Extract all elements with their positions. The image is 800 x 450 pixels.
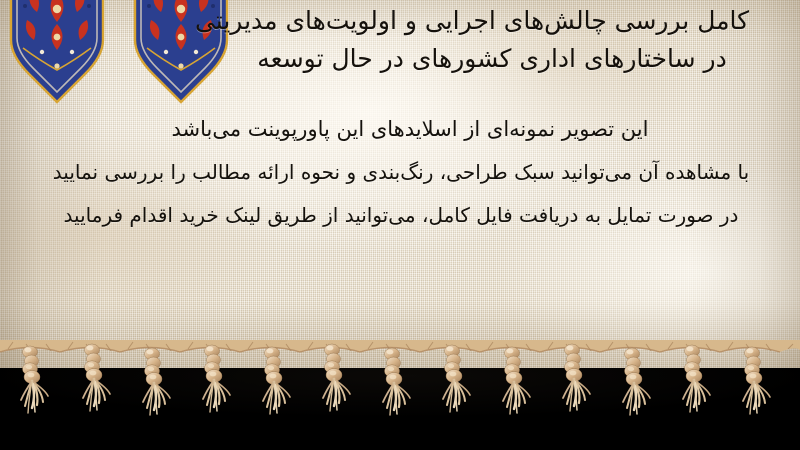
presentation-slide: کامل بررسی چالش‌های اجرایی و اولویت‌های … <box>0 0 800 450</box>
title-line-1: کامل بررسی چالش‌های اجرایی و اولویت‌های … <box>152 2 792 40</box>
black-bottom-band <box>0 368 800 450</box>
title-line-2: در ساختارهای اداری کشورهای در حال توسعه <box>152 40 800 78</box>
body-line-3: در صورت تمایل به دریافت فایل کامل، می‌تو… <box>16 194 786 237</box>
body-line-1: این تصویر نمونه‌ای از اسلایدهای این پاور… <box>16 108 800 151</box>
slide-title: کامل بررسی چالش‌های اجرایی و اولویت‌های … <box>152 2 792 78</box>
slide-body: این تصویر نمونه‌ای از اسلایدهای این پاور… <box>16 108 786 237</box>
body-line-2: با مشاهده آن می‌توانید سبک طراحی، رنگ‌بن… <box>16 151 786 194</box>
